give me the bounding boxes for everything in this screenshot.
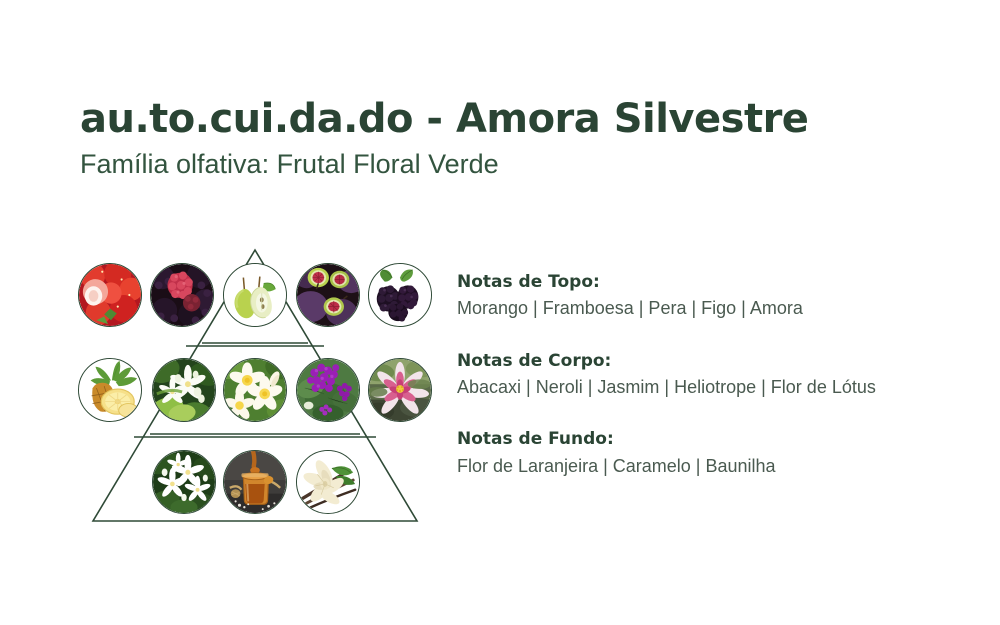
orange-blossom-photo bbox=[153, 451, 215, 513]
note-group-top: Notas de Topo: Morango | Framboesa | Per… bbox=[457, 272, 957, 321]
note-group-title-top: Notas de Topo: bbox=[457, 272, 957, 293]
note-circle-pera[interactable] bbox=[223, 263, 287, 327]
orange-blossom-neroli-photo bbox=[153, 359, 215, 421]
blackberry-photo bbox=[369, 264, 431, 326]
note-group-items-heart: Abacaxi | Neroli | Jasmim | Heliotrope |… bbox=[457, 376, 957, 399]
note-circle-jasmim[interactable] bbox=[223, 358, 287, 422]
notes-list: Notas de Topo: Morango | Framboesa | Per… bbox=[457, 272, 957, 478]
note-circle-abacaxi[interactable] bbox=[78, 358, 142, 422]
vanilla-photo bbox=[297, 451, 359, 513]
header: au.to.cui.da.do - Amora Silvestre Famíli… bbox=[80, 96, 900, 180]
note-circle-baunilha[interactable] bbox=[296, 450, 360, 514]
note-group-title-heart: Notas de Corpo: bbox=[457, 351, 957, 372]
note-circle-flor-de-laranjeira[interactable] bbox=[152, 450, 216, 514]
strawberry-photo bbox=[79, 264, 141, 326]
note-circle-amora[interactable] bbox=[368, 263, 432, 327]
fig-photo bbox=[297, 264, 359, 326]
caramel-jar-photo bbox=[224, 451, 286, 513]
note-group-title-base: Notas de Fundo: bbox=[457, 429, 957, 450]
note-circle-caramelo[interactable] bbox=[223, 450, 287, 514]
note-circle-figo[interactable] bbox=[296, 263, 360, 327]
note-circle-heliotrope[interactable] bbox=[296, 358, 360, 422]
note-group-heart: Notas de Corpo: Abacaxi | Neroli | Jasmi… bbox=[457, 351, 957, 400]
note-group-items-base: Flor de Laranjeira | Caramelo | Baunilha bbox=[457, 455, 957, 478]
note-circle-flor-de-lotus[interactable] bbox=[368, 358, 432, 422]
note-circle-framboesa[interactable] bbox=[150, 263, 214, 327]
lotus-flower-photo bbox=[369, 359, 431, 421]
jasmine-frangipani-photo bbox=[224, 359, 286, 421]
heliotrope-photo bbox=[297, 359, 359, 421]
fragrance-pyramid bbox=[70, 240, 440, 540]
page-title: au.to.cui.da.do - Amora Silvestre bbox=[80, 96, 900, 142]
note-group-items-top: Morango | Framboesa | Pera | Figo | Amor… bbox=[457, 297, 957, 320]
note-group-base: Notas de Fundo: Flor de Laranjeira | Car… bbox=[457, 429, 957, 478]
note-circle-morango[interactable] bbox=[78, 263, 142, 327]
olfactive-family-subtitle: Família olfativa: Frutal Floral Verde bbox=[80, 148, 900, 180]
note-circle-neroli[interactable] bbox=[152, 358, 216, 422]
pineapple-photo bbox=[79, 359, 141, 421]
raspberry-blackberry-photo bbox=[151, 264, 213, 326]
pear-photo bbox=[224, 264, 286, 326]
